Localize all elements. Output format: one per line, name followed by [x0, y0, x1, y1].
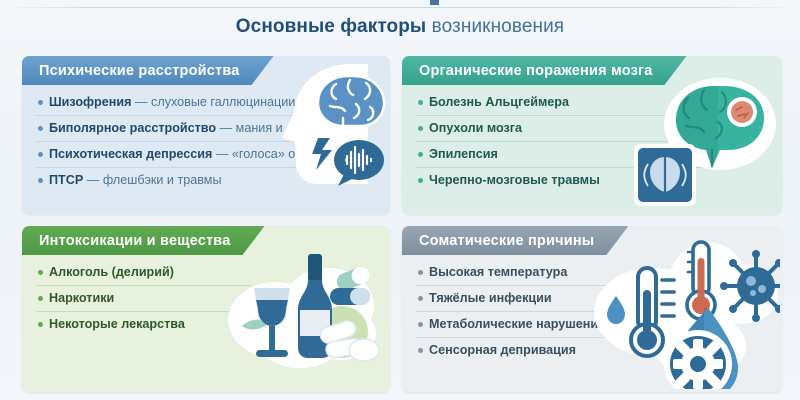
card-list-somatic-causes: Высокая температура Тяжёлые инфекции Мет… [416, 260, 636, 363]
bullet-icon [38, 296, 43, 301]
card-list-mental-disorders: Шизофрения — слуховые галлюцинации Бипол… [36, 90, 336, 193]
card-header-mental-disorders: Психические расстройства [22, 56, 274, 85]
page-title-bold: Основные факторы [236, 16, 426, 37]
list-item[interactable]: Некоторые лекарства [36, 311, 251, 337]
list-item-lead: Тяжёлые инфекции [429, 291, 552, 305]
bullet-icon [418, 100, 423, 105]
card-list-organic-brain-lesions: Болезнь Альцгеймера Опухоли мозга Эпилеп… [416, 90, 716, 193]
list-item[interactable]: ПТСР — флешбэки и травмы [36, 167, 336, 193]
bullet-icon [38, 152, 43, 157]
list-item[interactable]: Эпилепсия [416, 141, 716, 167]
list-item[interactable]: Болезнь Альцгеймера [416, 90, 716, 115]
list-item-lead: Алкоголь (делирий) [49, 265, 174, 279]
list-item-lead: Психотическая депрессия [49, 147, 212, 161]
list-item-text: Эпилепсия [429, 147, 498, 162]
card-header-somatic-causes: Соматические причины [402, 226, 628, 255]
list-item-text: Сенсорная депривация [429, 343, 576, 358]
list-item-text: Тяжёлые инфекции [429, 291, 552, 306]
list-item-text: Наркотики [49, 291, 114, 306]
list-item-text: Высокая температура [429, 265, 567, 280]
list-item[interactable]: Тяжёлые инфекции [416, 285, 636, 311]
list-item-tail: — мания и депрессия [216, 121, 348, 135]
list-item[interactable]: Метаболические нарушения [416, 311, 636, 337]
card-mental-disorders[interactable]: Психические расстройства Шизофрения — сл… [22, 56, 390, 214]
list-item-text: Опухоли мозга [429, 121, 522, 136]
bullet-icon [418, 348, 423, 353]
list-item-text: Болезнь Альцгеймера [429, 95, 569, 110]
list-item-text: Шизофрения — слуховые галлюцинации [49, 95, 295, 110]
bullet-icon [418, 126, 423, 131]
list-item[interactable]: Шизофрения — слуховые галлюцинации [36, 90, 336, 115]
bullet-icon [38, 126, 43, 131]
list-item-text: Черепно-мозговые травмы [429, 173, 600, 188]
bullet-icon [418, 178, 423, 183]
card-header-intoxications-substances: Интоксикации и вещества [22, 226, 264, 255]
card-header-organic-brain-lesions: Органические поражения мозга [402, 56, 687, 85]
list-item-lead: ПТСР [49, 173, 83, 187]
bullet-icon [38, 178, 43, 183]
list-item[interactable]: Биполярное расстройство — мания и депрес… [36, 115, 336, 141]
list-item[interactable]: Опухоли мозга [416, 115, 716, 141]
list-item-text: Биполярное расстройство — мания и депрес… [49, 121, 348, 136]
list-item-text: ПТСР — флешбэки и травмы [49, 173, 222, 188]
list-item-lead: Биполярное расстройство [49, 121, 216, 135]
top-divider [0, 7, 800, 8]
list-item-tail: — флешбэки и травмы [83, 173, 221, 187]
list-item-tail: — «голоса» обвинения [212, 147, 351, 161]
bullet-icon [418, 322, 423, 327]
list-item-lead: Метаболические нарушения [429, 317, 605, 331]
top-cropped-element [430, 0, 439, 5]
card-list-intoxications-substances: Алкоголь (делирий) Наркотики Некоторые л… [36, 260, 251, 337]
list-item-text: Алкоголь (делирий) [49, 265, 174, 280]
list-item[interactable]: Сенсорная депривация [416, 337, 636, 363]
bullet-icon [418, 296, 423, 301]
bullet-icon [38, 322, 43, 327]
list-item-lead: Наркотики [49, 291, 114, 305]
bullet-icon [418, 270, 423, 275]
bullet-icon [38, 100, 43, 105]
list-item-lead: Высокая температура [429, 265, 567, 279]
card-somatic-causes[interactable]: Соматические причины Высокая температура… [402, 226, 782, 392]
card-organic-brain-lesions[interactable]: Органические поражения мозга Болезнь Аль… [402, 56, 782, 214]
list-item-text: Психотическая депрессия — «голоса» обвин… [49, 147, 351, 162]
list-item[interactable]: Высокая температура [416, 260, 636, 285]
list-item[interactable]: Черепно-мозговые травмы [416, 167, 716, 193]
list-item-text: Метаболические нарушения [429, 317, 605, 332]
list-item-text: Некоторые лекарства [49, 317, 185, 332]
list-item-lead: Шизофрения [49, 95, 131, 109]
list-item-lead: Опухоли мозга [429, 121, 522, 135]
list-item-lead: Сенсорная депривация [429, 343, 576, 357]
bullet-icon [38, 270, 43, 275]
list-item-lead: Болезнь Альцгеймера [429, 95, 569, 109]
page-title: Основные факторы возникновения [0, 15, 800, 39]
list-item[interactable]: Наркотики [36, 285, 251, 311]
list-item-lead: Черепно-мозговые травмы [429, 173, 600, 187]
card-intoxications-substances[interactable]: Интоксикации и вещества Алкоголь (делири… [22, 226, 390, 392]
page-title-regular: возникновения [432, 16, 565, 37]
list-item-lead: Эпилепсия [429, 147, 498, 161]
list-item[interactable]: Психотическая депрессия — «голоса» обвин… [36, 141, 336, 167]
bullet-icon [418, 152, 423, 157]
list-item[interactable]: Алкоголь (делирий) [36, 260, 251, 285]
infographic-page: Основные факторы возникновения Психическ… [0, 0, 800, 400]
list-item-lead: Некоторые лекарства [49, 317, 185, 331]
cards-grid: Психические расстройства Шизофрения — сл… [22, 56, 782, 392]
list-item-tail: — слуховые галлюцинации [131, 95, 295, 109]
